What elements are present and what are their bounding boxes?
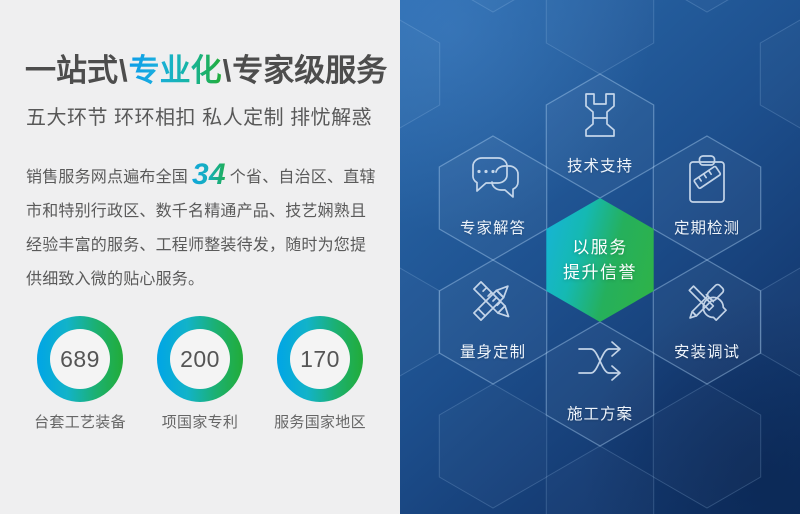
paragraph-text-before: 销售服务网点遍布全国 (26, 169, 188, 186)
center-hex-label: 以服务 提升信誉 (563, 235, 637, 285)
progress-ring: 170 (277, 316, 363, 402)
stat-label: 台套工艺装备 (34, 411, 126, 432)
headline-part-1: 一站式 (25, 53, 118, 88)
page-subtitle: 五大环节 环环相扣 私人定制 排忧解惑 (26, 101, 372, 130)
stat-item: 170 服务国家地区 (260, 316, 380, 432)
hex-label-top-right[interactable]: 定期检测 (674, 216, 740, 238)
hex-cell-bottom (546, 322, 653, 446)
hex-cell-top-left (439, 136, 546, 260)
stat-label: 服务国家地区 (274, 411, 366, 432)
hex-cell-top-right (653, 136, 760, 260)
stat-item: 689 台套工艺装备 (20, 316, 140, 432)
province-count: 34 (188, 158, 230, 191)
promo-banner: 一站式\专业化\专家级服务 五大环节 环环相扣 私人定制 排忧解惑 销售服务网点… (0, 0, 800, 514)
stat-value: 689 (37, 316, 123, 402)
center-label-line-1: 以服务 (563, 235, 637, 260)
hex-cell-bottom-right (653, 260, 760, 384)
stat-item: 200 项国家专利 (140, 316, 260, 432)
hex-label-bottom[interactable]: 施工方案 (567, 402, 633, 424)
headline-part-2: 专家级服务 (232, 53, 387, 88)
stat-value: 170 (277, 316, 363, 402)
hex-label-top-left[interactable]: 专家解答 (460, 216, 526, 238)
progress-ring: 689 (37, 316, 123, 402)
stat-label: 项国家专利 (162, 411, 239, 432)
center-label-line-2: 提升信誉 (563, 260, 637, 285)
hex-label-top[interactable]: 技术支持 (567, 154, 633, 176)
page-title: 一站式\专业化\专家级服务 (25, 55, 387, 86)
description-paragraph: 销售服务网点遍布全国34个省、自治区、直辖市和特别行政区、数千名精通产品、技艺娴… (26, 158, 376, 297)
headline-highlight: 专业化 (129, 53, 222, 88)
stat-value: 200 (157, 316, 243, 402)
progress-ring: 200 (157, 316, 243, 402)
statistics-row: 689 台套工艺装备 (20, 316, 380, 432)
hex-label-bottom-left[interactable]: 量身定制 (460, 340, 526, 362)
hexagon-diagram-panel: 技术支持 定期检测 安装调试 施工方案 量身定制 专家解答 以服务 提升信誉 (400, 0, 800, 514)
headline-separator-1: \ (118, 53, 129, 88)
left-content-panel: 一站式\专业化\专家级服务 五大环节 环环相扣 私人定制 排忧解惑 销售服务网点… (0, 0, 400, 514)
hex-label-bottom-right[interactable]: 安装调试 (674, 340, 740, 362)
headline-separator-2: \ (222, 53, 233, 88)
hex-cell-bottom-left (439, 260, 546, 384)
hexagon-stage: 技术支持 定期检测 安装调试 施工方案 量身定制 专家解答 以服务 提升信誉 (400, 0, 800, 514)
